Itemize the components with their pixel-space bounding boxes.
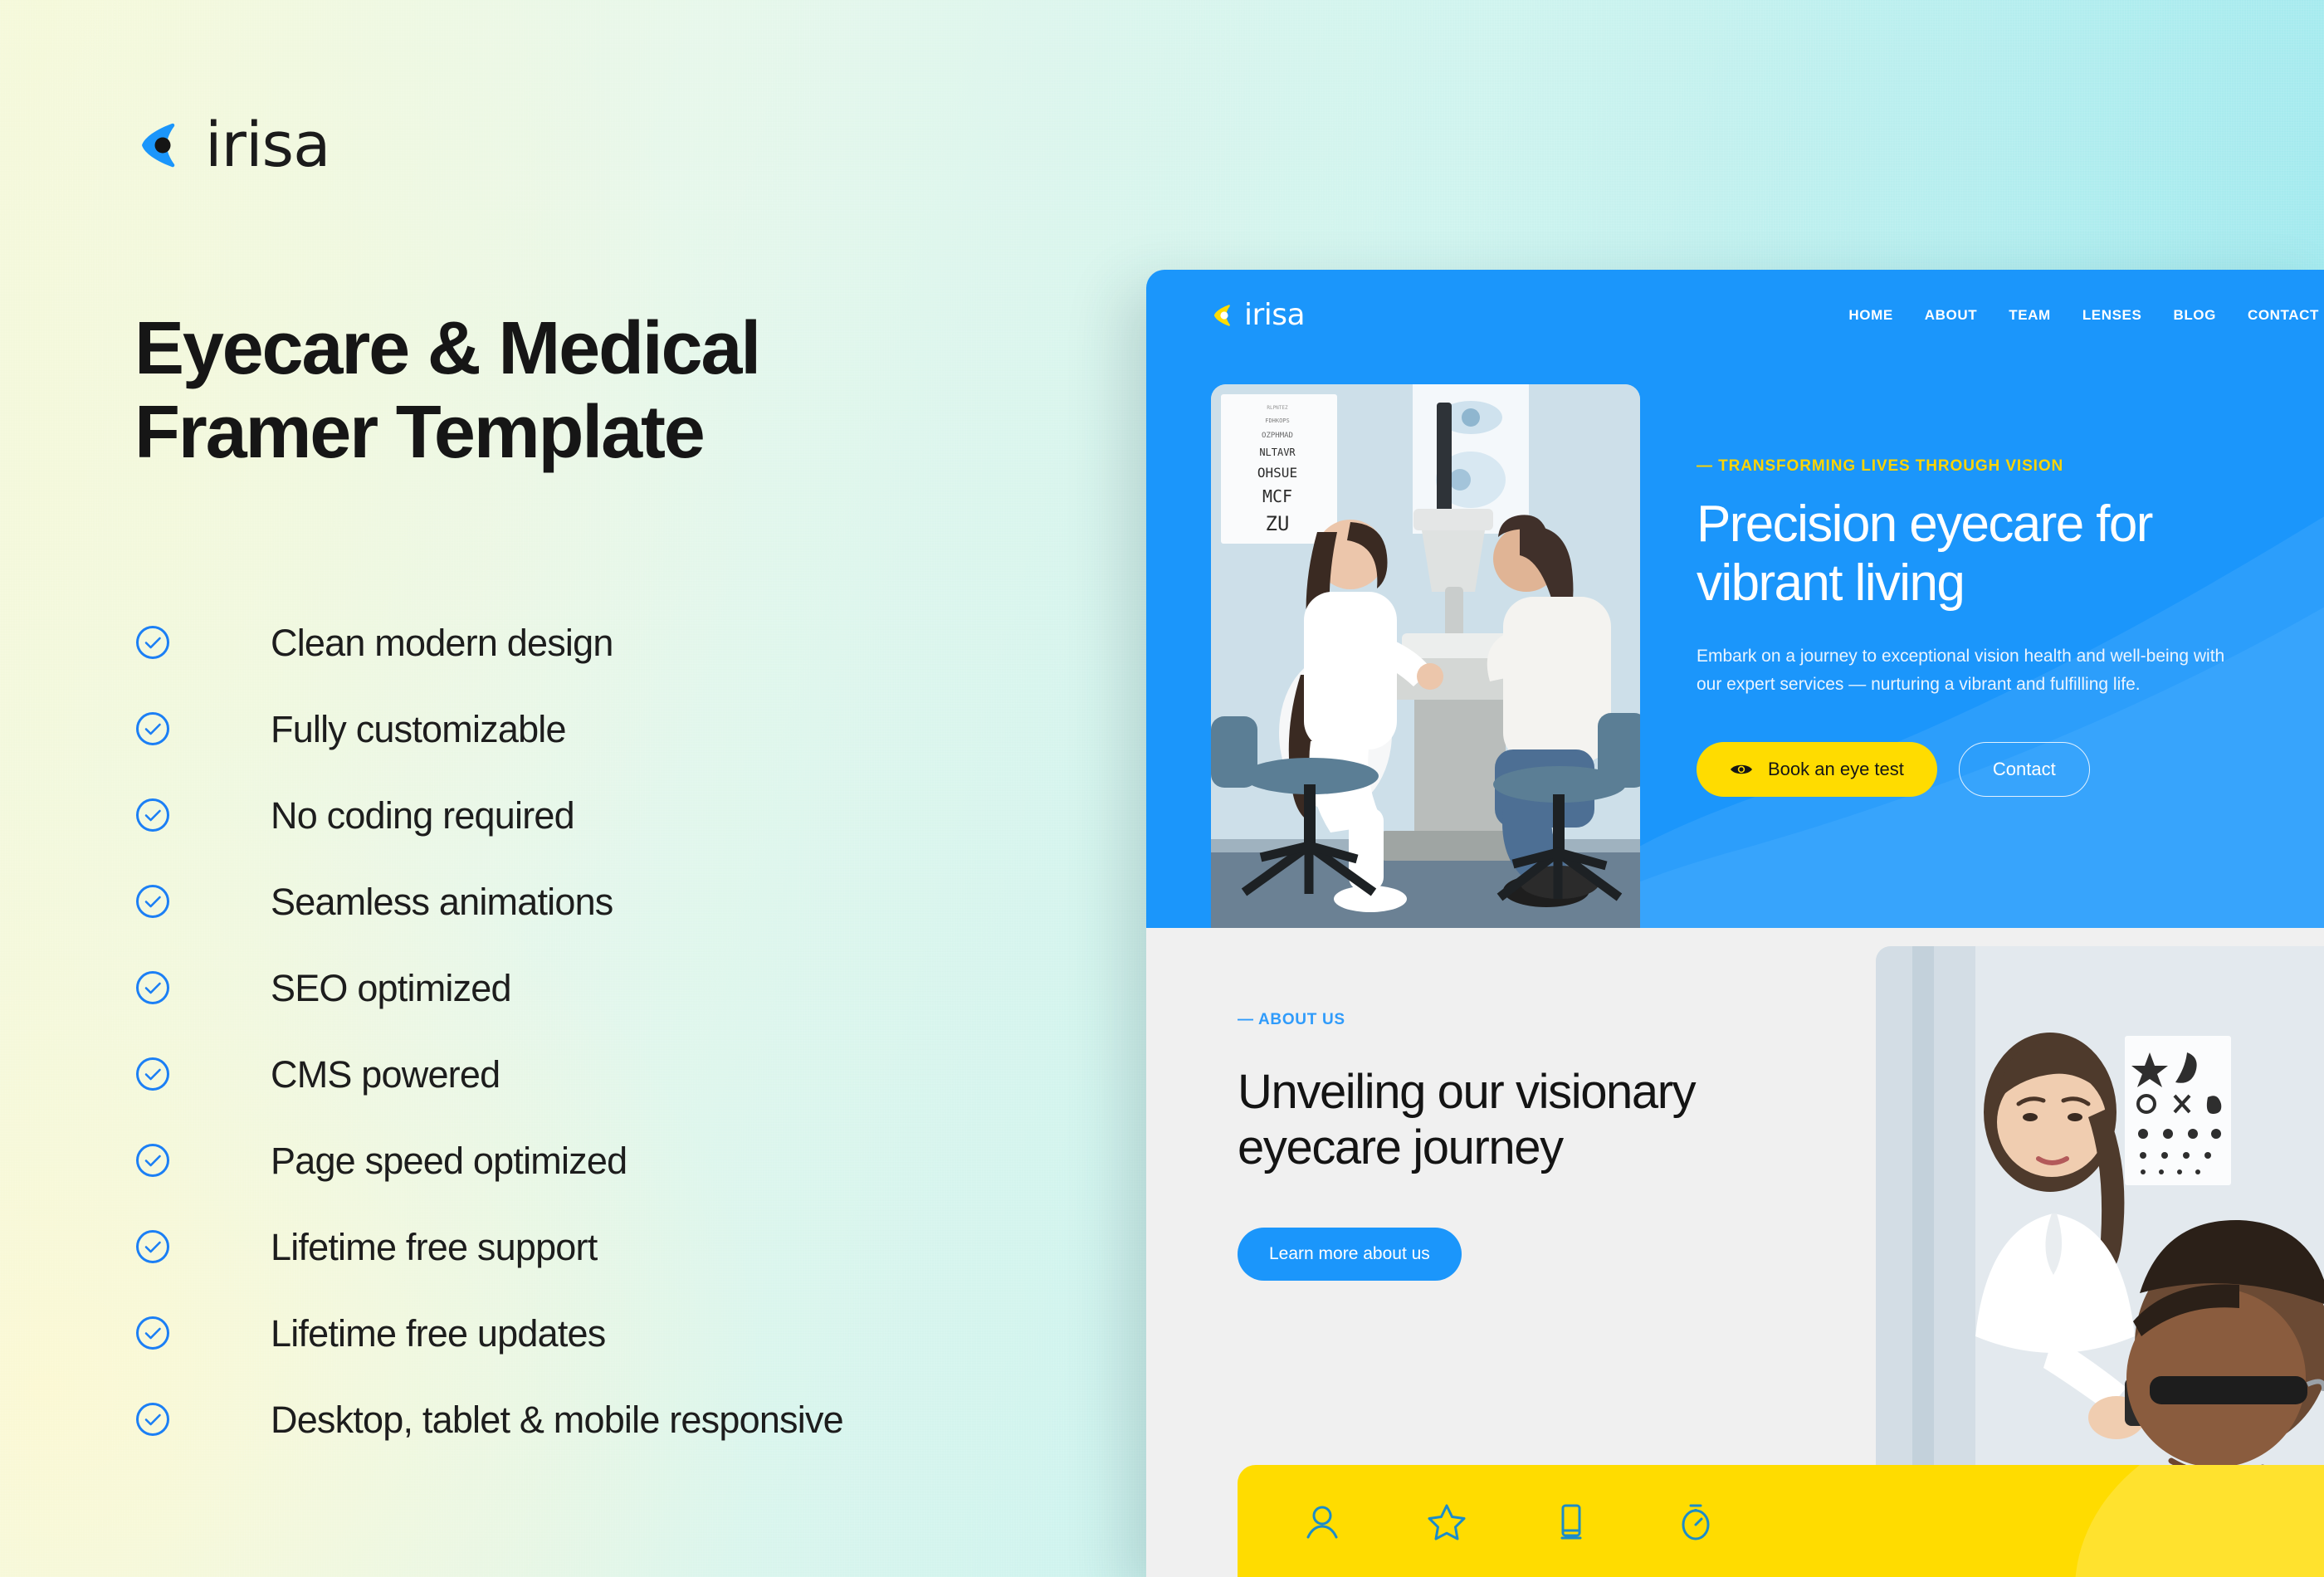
svg-text:FDHKOPS: FDHKOPS — [1265, 417, 1290, 424]
check-circle-icon — [135, 1402, 170, 1437]
hero-description: Embark on a journey to exceptional visio… — [1697, 642, 2244, 699]
headline-line-2: Framer Template — [134, 391, 1064, 475]
about-title: Unveiling our visionary eyecare journey — [1238, 1064, 1702, 1176]
nav-item-about[interactable]: ABOUT — [1925, 307, 1977, 324]
brand-name: irisa — [205, 115, 330, 176]
check-circle-icon — [135, 1057, 170, 1091]
mockup-about-section: — ABOUT US Unveiling our visionary eyeca… — [1146, 928, 2324, 1577]
template-preview-mockup: irisa HOME ABOUT TEAM LENSES BLOG CONTAC… — [1146, 270, 2324, 1577]
brand-lockup: irisa — [135, 115, 330, 176]
list-item: CMS powered — [135, 1031, 843, 1117]
svg-text:NLTAVR: NLTAVR — [1259, 447, 1296, 458]
nav-item-team[interactable]: TEAM — [2009, 307, 2051, 324]
hero-eyebrow: — TRANSFORMING LIVES THROUGH VISION — [1697, 457, 2291, 476]
hero-cta-group: Book an eye test Contact — [1697, 742, 2291, 797]
svg-text:RLPNTEZ: RLPNTEZ — [1267, 405, 1288, 411]
feature-label: SEO optimized — [271, 969, 511, 1007]
nav-item-blog[interactable]: BLOG — [2173, 307, 2216, 324]
list-item: Lifetime free support — [135, 1203, 843, 1290]
mockup-hero-body: RLPNTEZ FDHKOPS OZPHMAD NLTAVR OHSUE MCF… — [1146, 361, 2324, 928]
eye-chevron-icon — [135, 120, 187, 171]
mockup-nav-links: HOME ABOUT TEAM LENSES BLOG CONTACT — [1848, 307, 2324, 324]
svg-text:OHSUE: OHSUE — [1257, 465, 1297, 481]
learn-more-about-us-button[interactable]: Learn more about us — [1238, 1228, 1462, 1281]
list-item: Page speed optimized — [135, 1117, 843, 1203]
page-title: Eyecare & Medical Framer Template — [134, 307, 1064, 475]
check-circle-icon — [135, 884, 170, 919]
mobile-icon[interactable] — [1551, 1501, 1591, 1541]
feature-label: Lifetime free updates — [271, 1315, 605, 1352]
list-item: No coding required — [135, 772, 843, 858]
mockup-hero-section: irisa HOME ABOUT TEAM LENSES BLOG CONTAC… — [1146, 270, 2324, 928]
headline-line-1: Eyecare & Medical — [134, 307, 1064, 391]
band-decorative-blob — [2075, 1465, 2324, 1577]
nav-item-lenses[interactable]: LENSES — [2082, 307, 2142, 324]
check-circle-icon — [135, 970, 170, 1005]
mockup-brand-name: irisa — [1244, 300, 1305, 330]
feature-label: Lifetime free support — [271, 1228, 597, 1266]
book-eye-test-button[interactable]: Book an eye test — [1697, 742, 1937, 797]
feature-label: Page speed optimized — [271, 1142, 627, 1179]
mockup-navbar: irisa HOME ABOUT TEAM LENSES BLOG CONTAC… — [1146, 270, 2324, 361]
eye-chevron-icon — [1211, 303, 1236, 328]
check-circle-icon — [135, 1143, 170, 1178]
check-circle-icon — [135, 798, 170, 832]
svg-text:ZU: ZU — [1266, 512, 1290, 535]
list-item: Clean modern design — [135, 599, 843, 686]
list-item: Lifetime free updates — [135, 1290, 843, 1376]
feature-label: Fully customizable — [271, 710, 566, 748]
hero-contact-button[interactable]: Contact — [1959, 742, 2090, 797]
hero-title: Precision eyecare for vibrant living — [1697, 496, 2228, 613]
hero-copy: — TRANSFORMING LIVES THROUGH VISION Prec… — [1640, 384, 2324, 928]
svg-text:OZPHMAD: OZPHMAD — [1262, 432, 1293, 440]
feature-label: Seamless animations — [271, 883, 613, 920]
feature-label: No coding required — [271, 797, 574, 834]
hero-photo: RLPNTEZ FDHKOPS OZPHMAD NLTAVR OHSUE MCF… — [1211, 384, 1640, 928]
check-circle-icon — [135, 711, 170, 746]
stopwatch-icon[interactable] — [1676, 1501, 1716, 1541]
promo-column: irisa Eyecare & Medical Framer Template … — [0, 0, 1154, 1577]
svg-text:MCF: MCF — [1262, 486, 1292, 506]
feature-label: CMS powered — [271, 1056, 500, 1093]
feature-list: Clean modern design Fully customizable N… — [135, 599, 843, 1462]
about-copy: — ABOUT US Unveiling our visionary eyeca… — [1238, 1011, 1702, 1281]
list-item: Fully customizable — [135, 686, 843, 772]
about-eyebrow: — ABOUT US — [1238, 1011, 1702, 1029]
nav-item-contact[interactable]: CONTACT — [2248, 307, 2319, 324]
feature-label: Clean modern design — [271, 624, 613, 662]
feature-icon-band — [1238, 1465, 2324, 1577]
eye-icon — [1730, 762, 1753, 777]
list-item: Desktop, tablet & mobile responsive — [135, 1376, 843, 1462]
mockup-brand-lockup[interactable]: irisa — [1211, 300, 1305, 330]
check-circle-icon — [135, 1316, 170, 1350]
star-icon[interactable] — [1427, 1501, 1467, 1541]
person-icon[interactable] — [1302, 1501, 1342, 1541]
book-eye-test-label: Book an eye test — [1768, 759, 1904, 780]
list-item: SEO optimized — [135, 945, 843, 1031]
list-item: Seamless animations — [135, 858, 843, 945]
nav-item-home[interactable]: HOME — [1848, 307, 1892, 324]
check-circle-icon — [135, 1229, 170, 1264]
check-circle-icon — [135, 625, 170, 660]
feature-label: Desktop, tablet & mobile responsive — [271, 1401, 843, 1438]
